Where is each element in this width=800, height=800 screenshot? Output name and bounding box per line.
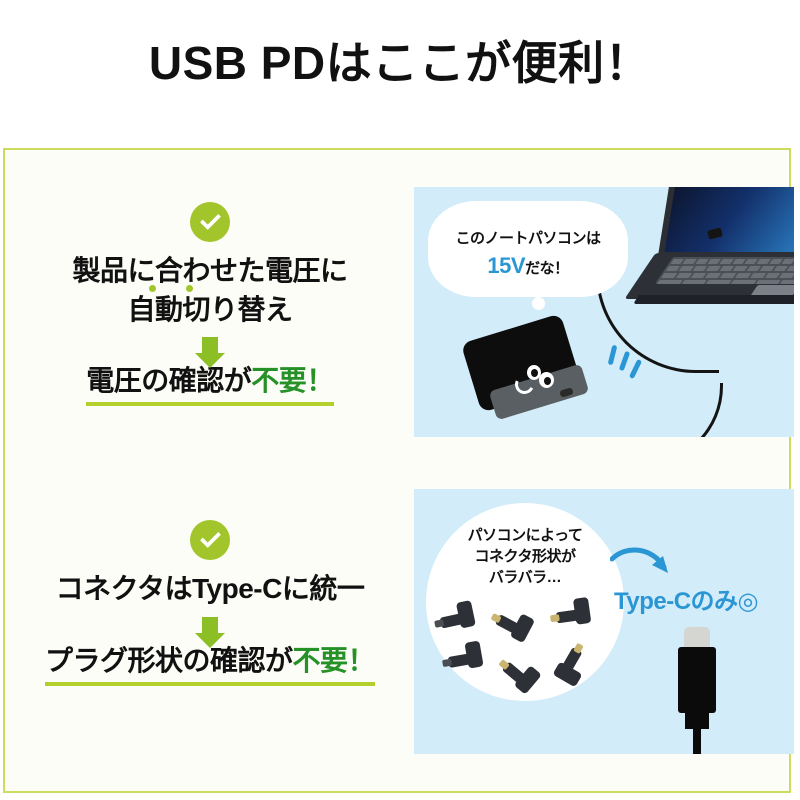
- bubble-voltage-suffix: だな！: [525, 260, 569, 277]
- benefit-item-1: 製品に合わせた電圧に 自動切り替え 電圧の確認が不要！: [15, 202, 405, 406]
- dc-barrel-plug-icon: [437, 600, 478, 637]
- type-c-label: Type-Cのみ◎: [614, 581, 758, 616]
- content-frame: 製品に合わせた電圧に 自動切り替え 電圧の確認が不要！ コネクタはType-Cに…: [3, 148, 791, 793]
- bubble-line-1: このノートパソコンは: [428, 227, 628, 248]
- sparkle-line-icon: [629, 359, 642, 379]
- speech-bubble: このノートパソコンは 15Vだな！: [428, 201, 628, 297]
- benefit-1-heading-line1: 製品に合わせた電圧に: [15, 252, 405, 291]
- benefit-1-result-emphasis: 不要！: [251, 365, 334, 396]
- sparkle-line-icon: [619, 351, 631, 372]
- sparkle-line-icon: [608, 345, 618, 366]
- benefit-item-2: コネクタはType-Cに統一 プラグ形状の確認が不要！: [15, 520, 405, 686]
- check-circle-icon: [190, 520, 230, 560]
- usb-pd-charger-character: [469, 327, 599, 427]
- charger-pupil-right: [544, 377, 551, 385]
- bubble-voltage: 15V: [487, 253, 525, 278]
- dc-barrel-plug-icon: [497, 653, 544, 699]
- plug-circle-line-3: バラバラ…: [426, 567, 624, 588]
- illustration-panel-voltage: このノートパソコンは 15Vだな！: [414, 187, 794, 437]
- illustration-panel-connector: パソコンによって コネクタ形状が バラバラ… Type-Cのみ◎: [414, 489, 794, 754]
- check-circle-icon: [190, 202, 230, 242]
- infographic-page: USB PDはここが便利！ 製品に合わせた電圧に 自動切り替え 電圧の確認が不要…: [0, 0, 800, 800]
- plug-circle-line-1: パソコンによって: [426, 525, 624, 546]
- usb-type-c-connector: [668, 627, 728, 747]
- connector-housing: [678, 647, 716, 713]
- page-title: USB PDはここが便利！: [0, 38, 800, 89]
- plug-circle-text: パソコンによって コネクタ形状が バラバラ…: [426, 525, 624, 588]
- benefit-1-heading-line2: 自動切り替え: [127, 291, 292, 330]
- dc-barrel-plug-icon: [491, 604, 537, 647]
- dc-barrel-plug-icon: [554, 597, 594, 632]
- connector-metal-tip: [684, 627, 710, 649]
- benefits-column: 製品に合わせた電圧に 自動切り替え 電圧の確認が不要！ コネクタはType-Cに…: [15, 150, 405, 795]
- plug-variety-circle: パソコンによって コネクタ形状が バラバラ…: [426, 503, 624, 701]
- dc-barrel-plug-icon: [446, 640, 487, 676]
- benefit-2-heading-line1: コネクタはType-Cに統一: [15, 570, 405, 609]
- plug-circle-line-2: コネクタ形状が: [426, 546, 624, 567]
- speech-bubble-tail: [532, 297, 545, 310]
- dc-barrel-plug-icon: [548, 643, 592, 689]
- charger-pupil-left: [531, 369, 538, 377]
- benefit-2-result-prefix: プラグ形状の確認が: [45, 645, 293, 676]
- connector-cable: [693, 727, 701, 754]
- benefit-2-result-emphasis: 不要！: [293, 645, 376, 676]
- bubble-line-2: 15Vだな！: [428, 253, 628, 279]
- benefit-1-result-prefix: 電圧の確認が: [86, 365, 251, 396]
